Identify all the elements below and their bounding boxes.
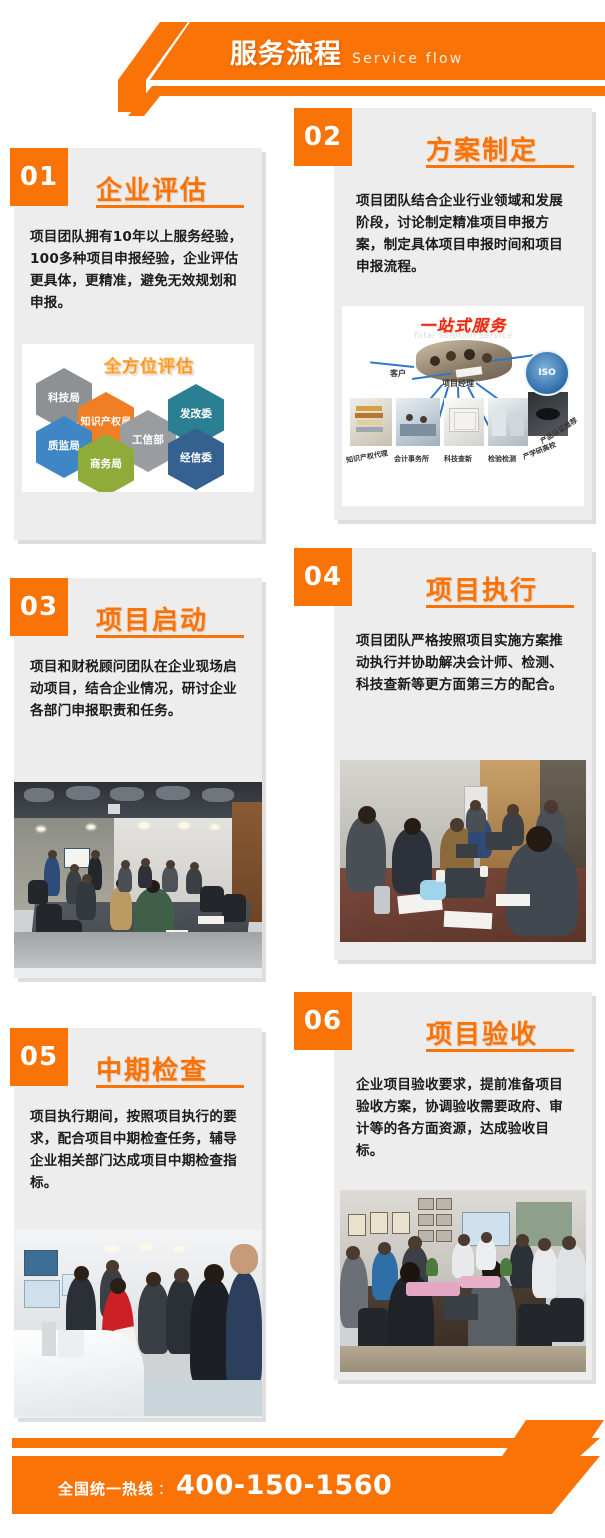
page-title-cn: 服务流程 [230,32,342,71]
oss-node-2 [444,398,484,446]
oss-node-3 [488,398,528,446]
hexagon-diagram: 全方位评估 科技局 知识产权局 质监局 工信部 商务局 发改委 经信委 [22,344,254,492]
step-body-02: 项目团队结合企业行业领域和发展阶段，讨论制定精准项目申报方案，制定具体项目申报时… [356,190,572,278]
step-number-badge-01: 01 [10,148,68,206]
step-photo-04 [340,760,586,942]
step-card-03[interactable]: 03 项目启动 项目和财税顾问团队在企业现场启动项目，结合企业情况，研讨企业各部… [14,578,262,978]
title-underline-02 [426,165,574,168]
oss-certification-seal: ISO [524,350,570,396]
one-stop-service-diagram: 一站式服务 Total Solution Service [342,306,584,506]
step-body-01: 项目团队拥有10年以上服务经验，100多种项目申报经验，企业评估更具体，更精准，… [30,226,246,314]
step-title-04: 项目执行 [426,570,538,607]
step-title-02: 方案制定 [426,130,538,167]
step-number-badge-03: 03 [10,578,68,636]
oss-center-label-1: 项目经理 [442,378,474,389]
hotline-colon: ： [158,1479,172,1499]
page-title: 服务流程 Service flow [230,32,463,74]
hotline-label: 全国统一热线 [58,1478,154,1499]
step-title-01: 企业评估 [96,170,208,207]
footer-stripe-tail [540,1438,600,1458]
step-title-03: 项目启动 [96,600,208,637]
step-photo-05 [14,1230,262,1416]
step-photo-06 [340,1190,586,1372]
step-number-badge-02: 02 [294,108,352,166]
title-underline-06 [426,1049,574,1052]
step-body-03: 项目和财税顾问团队在企业现场启动项目，结合企业情况，研讨企业各部门申报职责和任务… [30,656,246,722]
step-number-badge-05: 05 [10,1028,68,1086]
hotline: 全国统一热线 ： 400-150-1560 [58,1470,392,1501]
hexagon-diagram-title: 全方位评估 [104,352,194,377]
step-body-04: 项目团队严格按照项目实施方案推动执行并协助解决会计师、检测、科技查新等更方面第三… [356,630,572,696]
step-title-05: 中期检查 [96,1050,208,1087]
oss-node-label-3: 检验检测 [488,454,516,464]
step-card-02[interactable]: 02 方案制定 项目团队结合企业行业领域和发展阶段，讨论制定精准项目申报方案，制… [334,108,592,520]
oss-node-label-2: 科技查新 [444,454,472,464]
page-title-en: Service flow [352,51,463,67]
oss-node-label-1: 会计事务所 [394,454,429,464]
service-flow-page: 服务流程 Service flow 01 企业评估 项目团队拥有10年以上服务经… [0,0,605,1538]
oss-node-0 [350,398,392,446]
step-body-06: 企业项目验收要求，提前准备项目验收方案，协调验收需要政府、审计等的各方面资源，达… [356,1074,572,1162]
footer-stripe [12,1438,572,1448]
step-title-06: 项目验收 [426,1014,538,1051]
oss-node-1 [396,398,440,446]
step-photo-03 [14,782,262,968]
oss-node-label-0: 知识产权代理 [345,448,388,465]
step-card-05[interactable]: 05 中期检查 项目执行期间，按照项目执行的要求，配合项目中期检查任务，辅导企业… [14,1028,262,1418]
page-footer: 全国统一热线 ： 400-150-1560 [0,1398,605,1538]
oss-seal-text: ISO [538,368,555,378]
oss-subtitle: Total Solution Service [342,331,584,340]
title-underline-04 [426,605,574,608]
step-body-05: 项目执行期间，按照项目执行的要求，配合项目中期检查任务，辅导企业相关部门达成项目… [30,1106,246,1194]
hotline-number[interactable]: 400-150-1560 [176,1470,392,1501]
step-number-badge-04: 04 [294,548,352,606]
title-underline-03 [96,635,244,638]
hex-node-6: 经信委 [168,428,224,490]
header-stripe [150,86,605,96]
step-card-04[interactable]: 04 项目执行 项目团队严格按照项目实施方案推动执行并协助解决会计师、检测、科技… [334,548,592,960]
step-number-badge-06: 06 [294,992,352,1050]
oss-center-label-0: 客户 [390,368,406,379]
step-card-01[interactable]: 01 企业评估 项目团队拥有10年以上服务经验，100多种项目申报经验，企业评估… [14,148,262,540]
step-card-06[interactable]: 06 项目验收 企业项目验收要求，提前准备项目验收方案，协调验收需要政府、审计等… [334,992,592,1380]
title-underline-01 [96,205,244,208]
page-header: 服务流程 Service flow [0,0,605,112]
oss-arrow-0 [370,361,414,368]
title-underline-05 [96,1085,244,1088]
